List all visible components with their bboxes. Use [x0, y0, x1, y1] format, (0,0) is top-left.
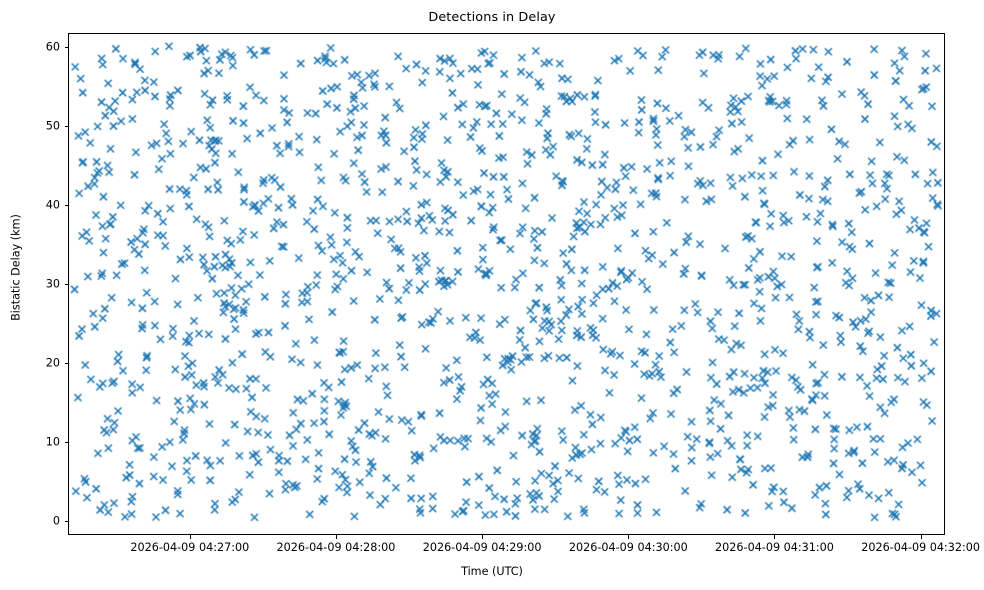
x-tick-mark [336, 535, 337, 539]
x-tick-mark [190, 535, 191, 539]
x-tick-mark [921, 535, 922, 539]
x-tick-mark [482, 535, 483, 539]
y-tick-label: 0 [53, 514, 60, 527]
x-tick-label: 2026-04-09 04:30:00 [569, 541, 688, 554]
y-tick-label: 10 [46, 435, 60, 448]
x-tick-mark [628, 535, 629, 539]
y-tick-mark [65, 521, 69, 522]
y-tick-mark [65, 126, 69, 127]
y-tick-mark [65, 284, 69, 285]
y-tick-mark [65, 205, 69, 206]
scatter-points-layer [69, 34, 944, 534]
y-tick-label: 50 [46, 120, 60, 133]
y-tick-mark [65, 363, 69, 364]
y-tick-mark [65, 47, 69, 48]
figure-canvas: Detections in Delay 2026-04-09 04:27:002… [0, 0, 984, 590]
y-tick-mark [65, 442, 69, 443]
y-tick-label: 30 [46, 278, 60, 291]
y-tick-label: 20 [46, 356, 60, 369]
y-tick-label: 40 [46, 199, 60, 212]
x-tick-label: 2026-04-09 04:28:00 [277, 541, 396, 554]
x-tick-label: 2026-04-09 04:32:00 [861, 541, 980, 554]
x-tick-label: 2026-04-09 04:29:00 [423, 541, 542, 554]
plot-axes-area [68, 33, 945, 535]
x-axis-label: Time (UTC) [0, 565, 984, 578]
y-axis-label: Bistatic Delay (km) [10, 148, 23, 388]
x-tick-label: 2026-04-09 04:31:00 [715, 541, 834, 554]
x-tick-mark [774, 535, 775, 539]
chart-title: Detections in Delay [0, 10, 984, 25]
y-tick-label: 60 [46, 41, 60, 54]
x-tick-label: 2026-04-09 04:27:00 [130, 541, 249, 554]
